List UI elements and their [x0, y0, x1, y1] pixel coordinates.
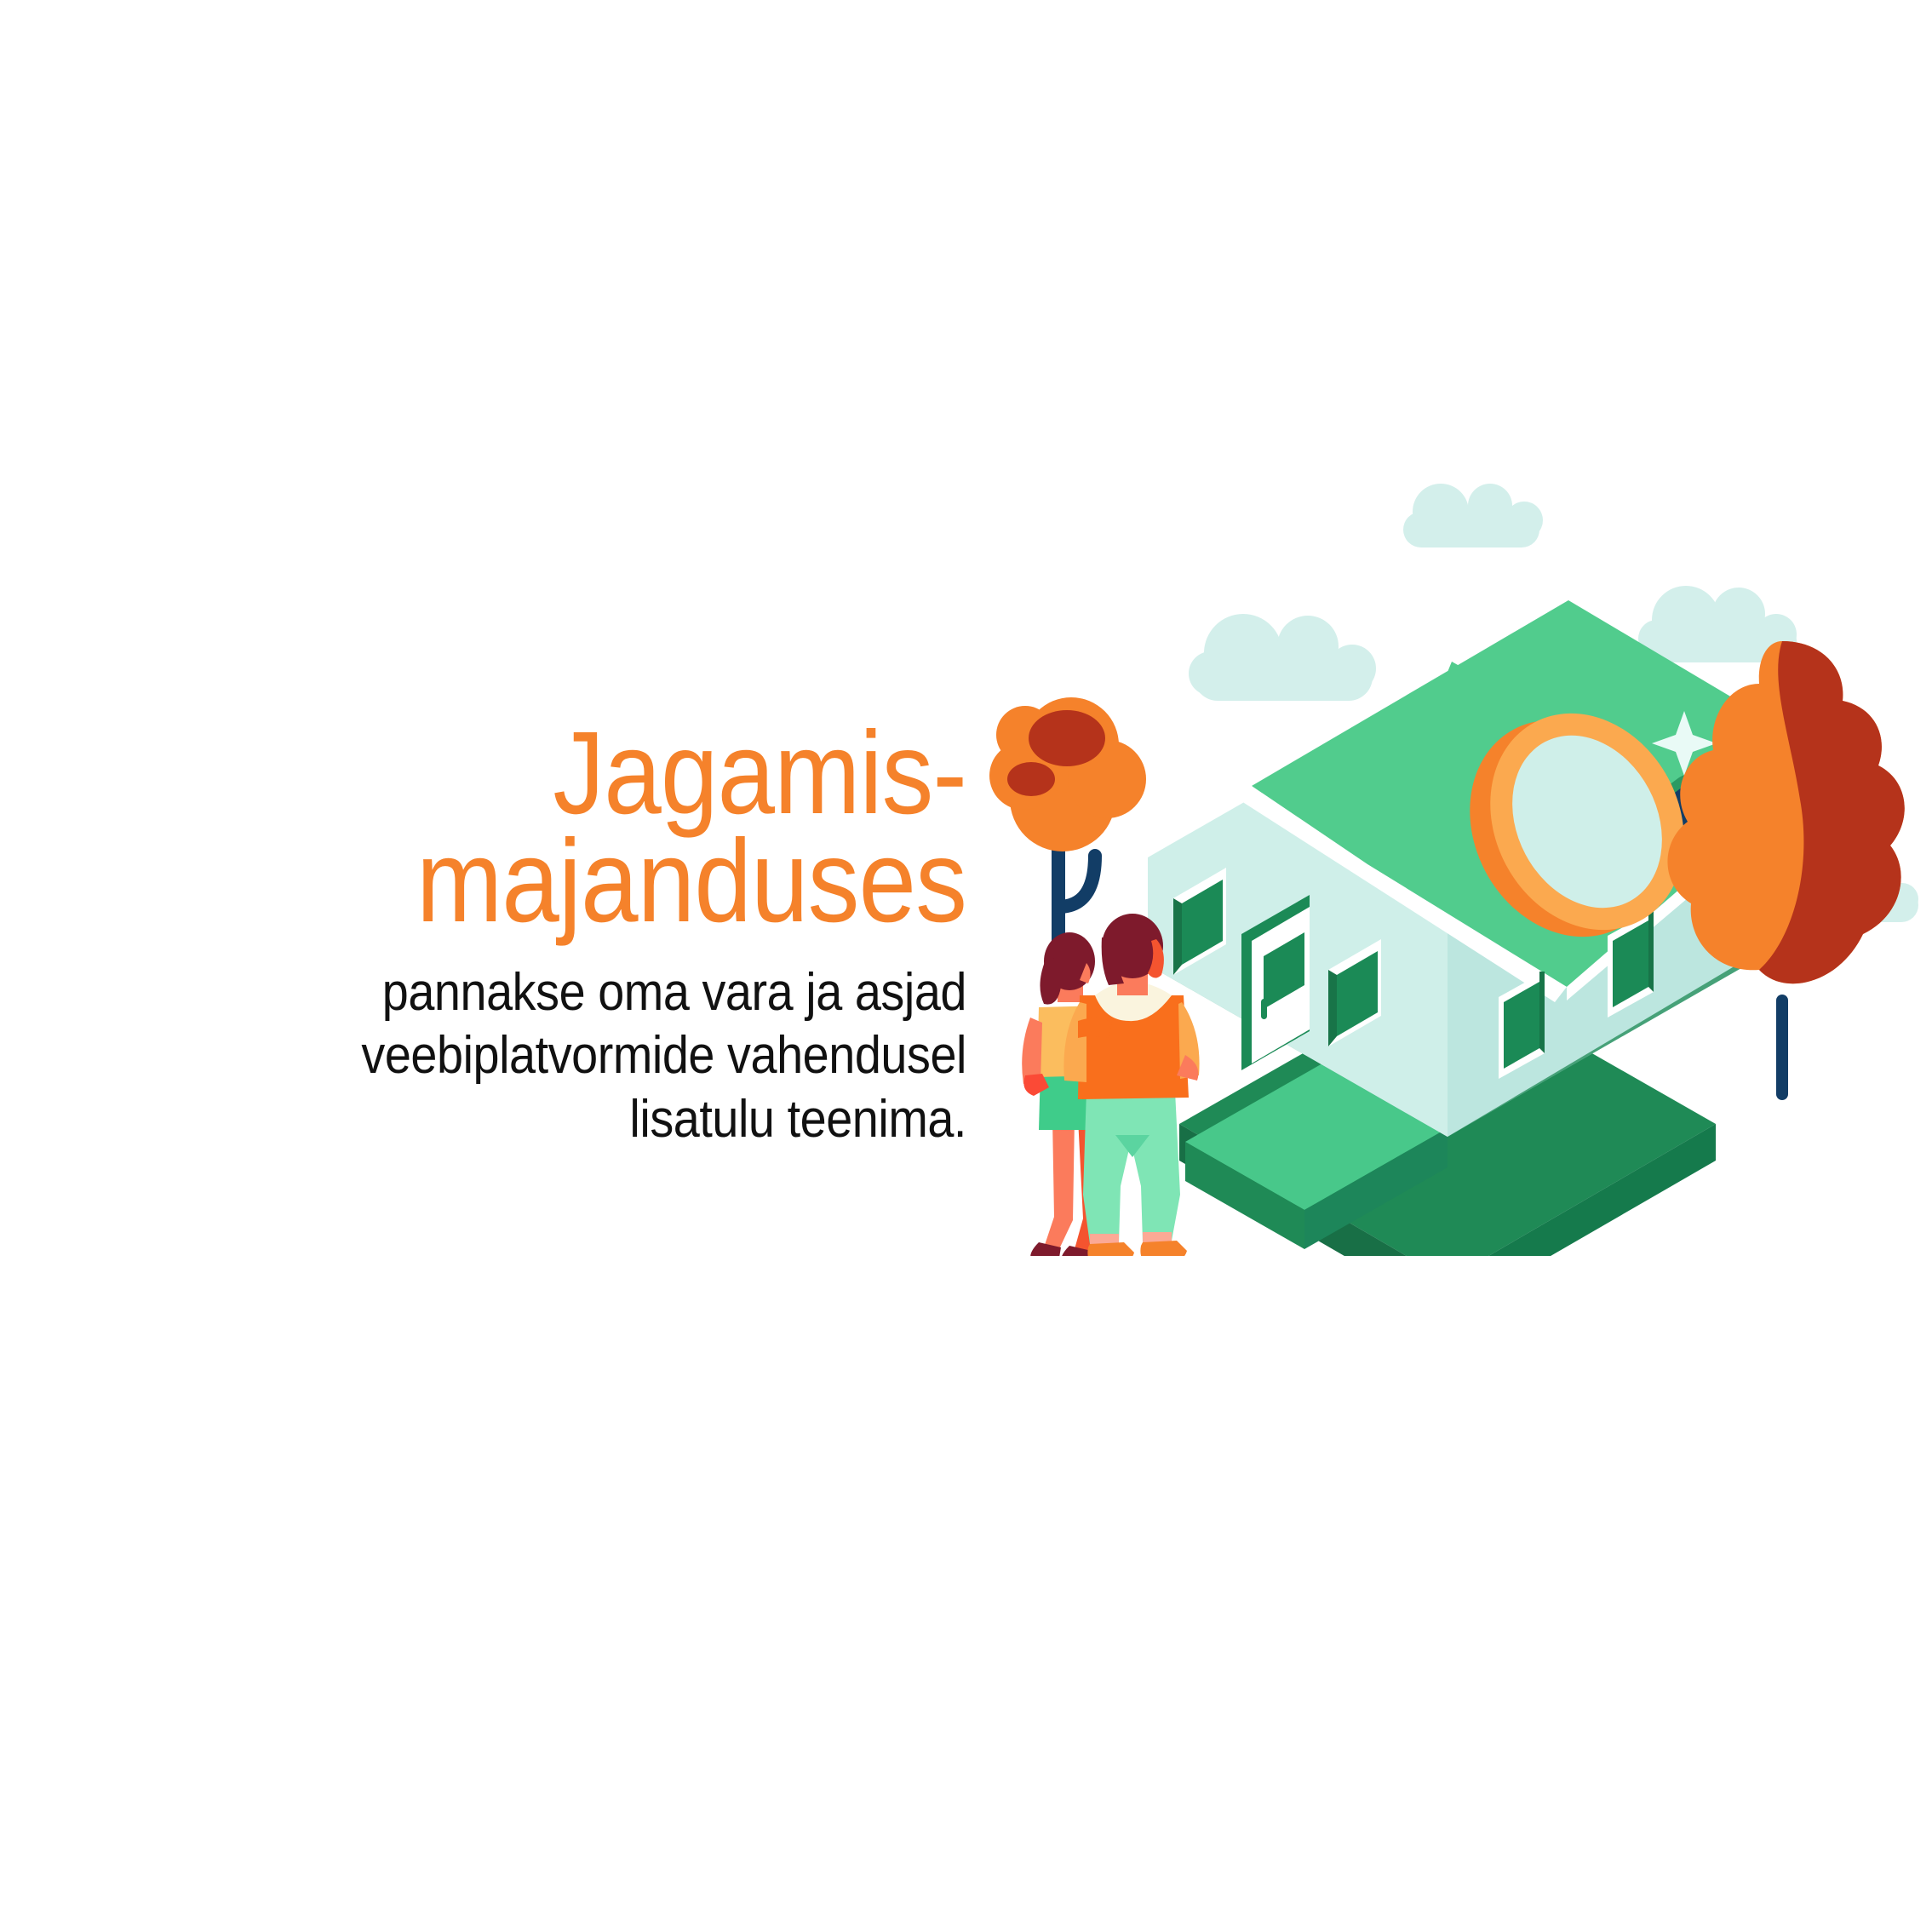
illustration-isometric-house [971, 464, 1932, 1256]
slide-canvas: Jagamis- majanduses pannakse oma vara ja… [0, 0, 1932, 1932]
text-block: Jagamis- majanduses pannakse oma vara ja… [196, 719, 966, 1151]
cloud-left-icon [1189, 614, 1376, 701]
door-handle [1261, 999, 1267, 1019]
cloud-top-icon [1403, 484, 1543, 547]
page-title: Jagamis- majanduses [289, 719, 966, 936]
page-subtitle: pannakse oma vara ja asjad veebiplatvorm… [273, 961, 967, 1151]
